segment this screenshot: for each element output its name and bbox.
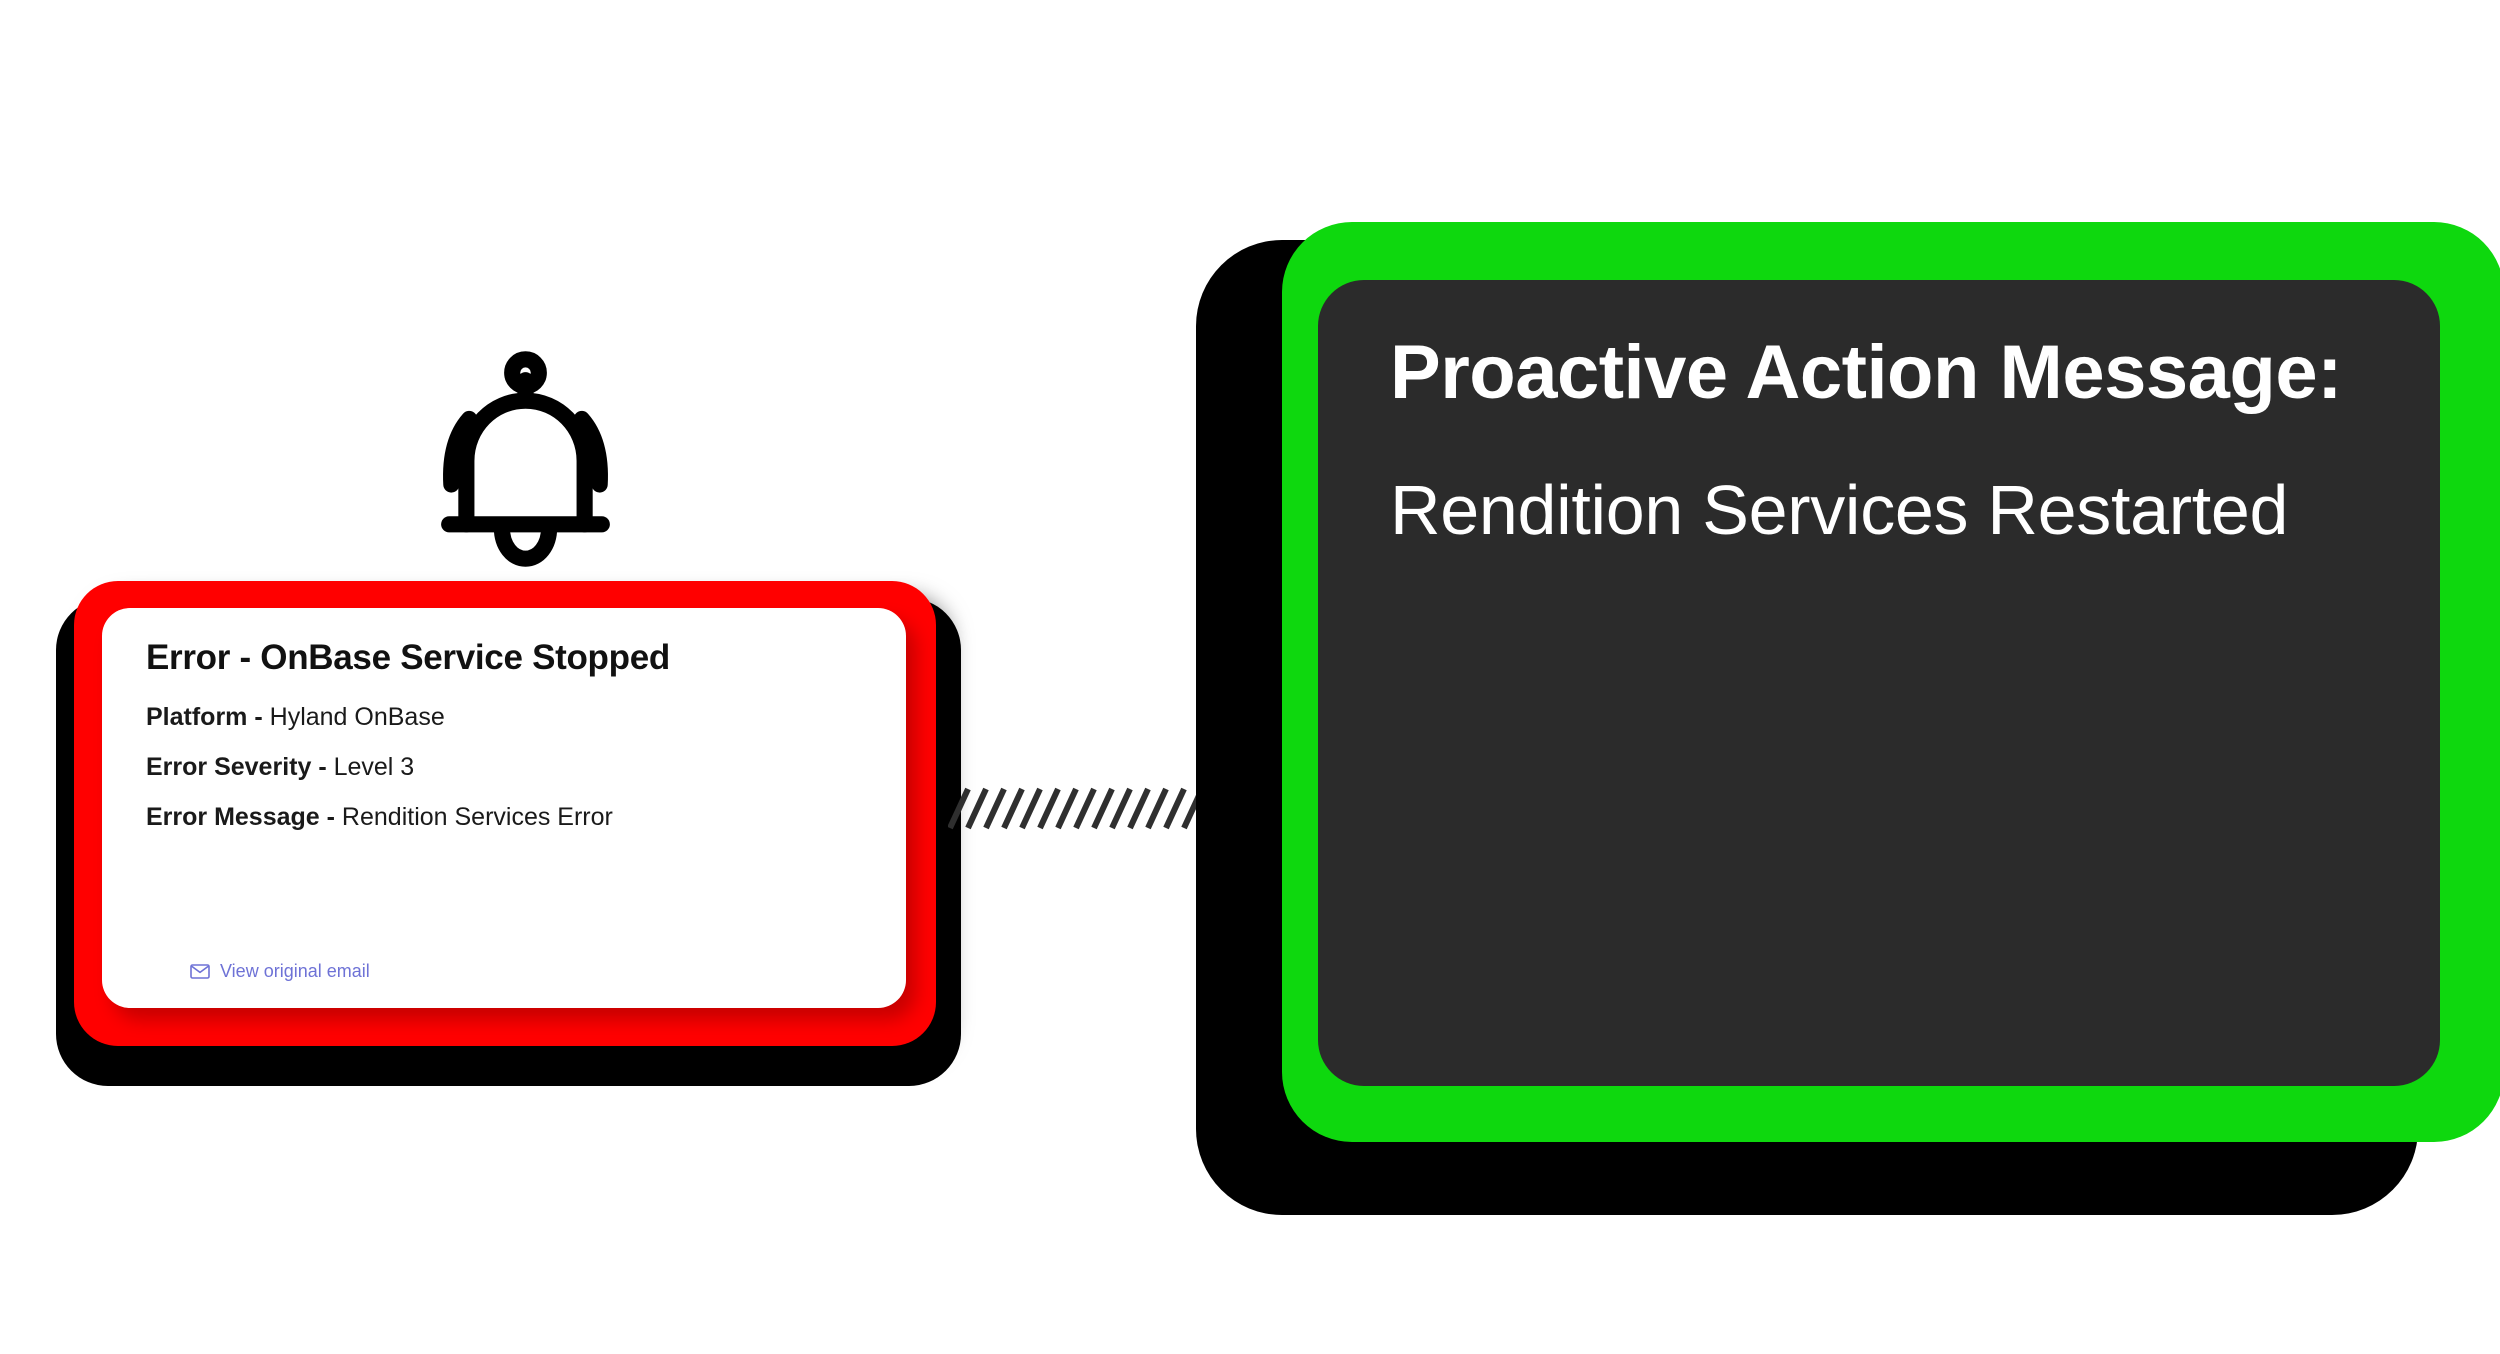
hatched-connector [948, 786, 1216, 830]
envelope-icon [190, 964, 210, 979]
diagram-canvas: Error - OnBase Service Stopped Platform … [0, 0, 2500, 1354]
alert-field-platform-label: Platform - [146, 703, 263, 731]
error-alert-card: Error - OnBase Service Stopped Platform … [56, 598, 966, 1088]
alert-title: Error - OnBase Service Stopped [146, 640, 882, 677]
alert-field-severity-label: Error Severity - [146, 753, 327, 781]
action-body-text: Rendition Services Restarted [1390, 470, 2392, 551]
bell-ringing-icon [418, 348, 633, 578]
view-original-email-label: View original email [220, 961, 370, 982]
proactive-action-panel: Proactive Action Message: Rendition Serv… [1196, 222, 2500, 1222]
alert-surface: Error - OnBase Service Stopped Platform … [102, 608, 906, 1008]
alert-field-platform: Platform - Hyland OnBase [146, 703, 882, 731]
action-surface: Proactive Action Message: Rendition Serv… [1318, 280, 2440, 1086]
alert-field-message-value: Rendition Services Error [342, 803, 613, 831]
alert-field-message: Error Message - Rendition Services Error [146, 803, 882, 831]
view-original-email-link[interactable]: View original email [190, 961, 370, 982]
alert-field-platform-value: Hyland OnBase [270, 703, 445, 731]
alert-field-severity-value: Level 3 [334, 753, 415, 781]
action-heading: Proactive Action Message: [1390, 328, 2392, 418]
alert-field-message-label: Error Message - [146, 803, 335, 831]
alert-field-severity: Error Severity - Level 3 [146, 753, 882, 781]
